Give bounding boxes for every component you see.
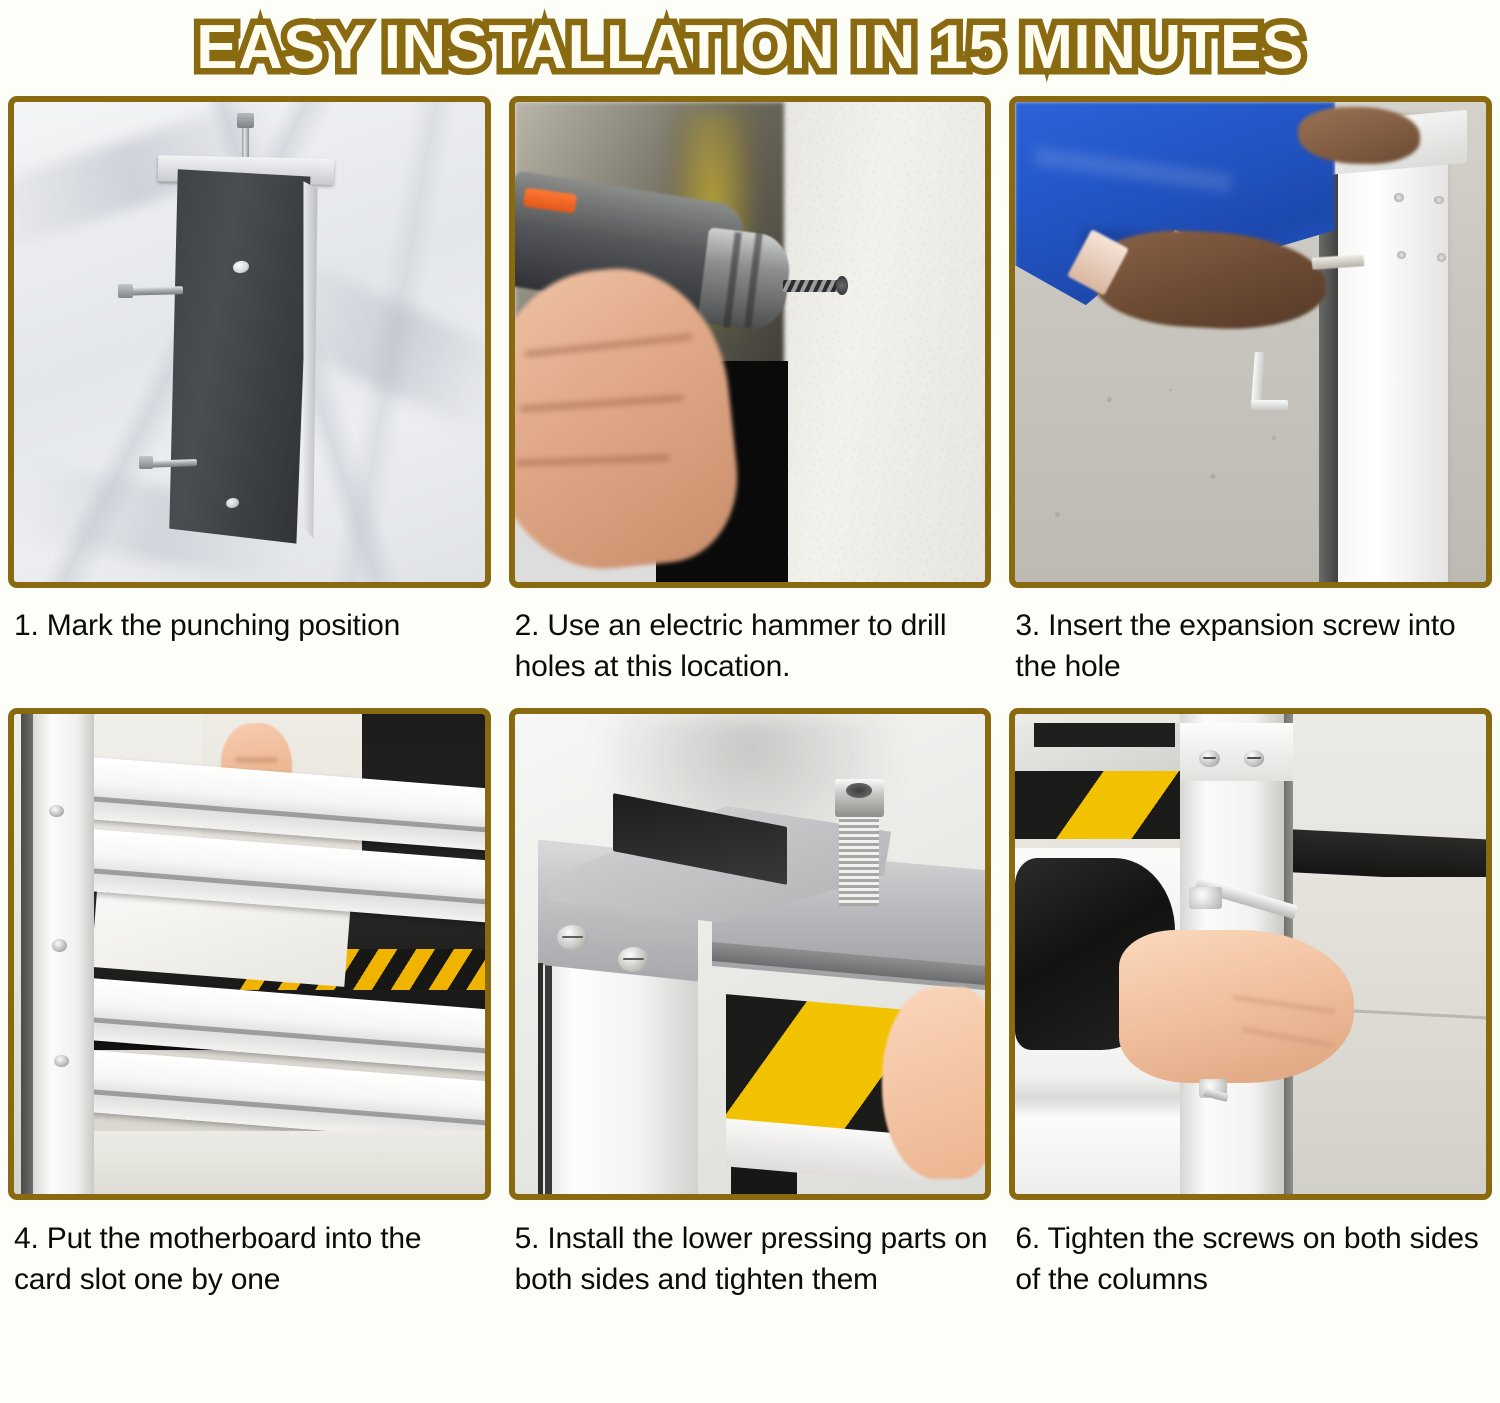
column-shadow-line bbox=[538, 963, 543, 1193]
white-column bbox=[33, 714, 94, 1194]
step-3-caption: 3. Insert the expansion screw into the h… bbox=[1009, 588, 1492, 688]
step-2-photo bbox=[515, 102, 986, 582]
step-card-2: 2. Use an electric hammer to drill holes… bbox=[509, 96, 992, 688]
textured-wall bbox=[783, 102, 985, 582]
step-1-photo bbox=[14, 102, 485, 582]
column-dark-edge bbox=[545, 939, 552, 1193]
worker-upper-hand bbox=[1298, 107, 1420, 165]
column-screw bbox=[1434, 196, 1443, 205]
step-2-photo-frame bbox=[509, 96, 992, 588]
masonry-drill-bit bbox=[783, 280, 839, 292]
finger-crease bbox=[235, 757, 277, 763]
step-4-caption: 4. Put the motherboard into the card slo… bbox=[8, 1200, 491, 1301]
step-card-4: 4. Put the motherboard into the card slo… bbox=[8, 708, 491, 1301]
step-3-photo-frame bbox=[1009, 96, 1492, 588]
step-1-caption: 1. Mark the punching position bbox=[8, 588, 491, 646]
column-screw bbox=[1199, 750, 1220, 767]
floor bbox=[52, 1131, 485, 1193]
anchor-bolt-lower-head bbox=[139, 456, 153, 469]
anchor-bolt-upper-head bbox=[118, 284, 133, 298]
step-4-photo bbox=[14, 714, 485, 1194]
step-card-1: 1. Mark the punching position bbox=[8, 96, 491, 688]
steps-grid-row-1: 1. Mark the punching position bbox=[0, 96, 1500, 688]
column-screw bbox=[52, 939, 67, 951]
hand-supporting-part bbox=[882, 987, 986, 1179]
white-column bbox=[1335, 116, 1448, 582]
allen-key-short-arm bbox=[1251, 400, 1289, 411]
dark-top-rail bbox=[1034, 723, 1175, 747]
column-screw bbox=[1244, 750, 1265, 767]
step-6-photo-frame bbox=[1009, 708, 1492, 1200]
step-card-3: 3. Insert the expansion screw into the h… bbox=[1009, 96, 1492, 688]
column-base-plate bbox=[169, 169, 310, 543]
hex-bolt-thread bbox=[839, 810, 879, 906]
header-banner: EASY INSTALLATION IN 15 MINUTES bbox=[0, 0, 1500, 96]
pressing-part-screw bbox=[557, 925, 588, 950]
top-bolt-head bbox=[237, 113, 254, 128]
step-3-photo bbox=[1015, 102, 1486, 582]
hex-bolt-socket bbox=[846, 783, 872, 797]
step-6-photo bbox=[1015, 714, 1486, 1194]
column-top-bracket bbox=[1180, 723, 1293, 781]
step-5-photo bbox=[515, 714, 986, 1194]
column-screw bbox=[1394, 193, 1403, 202]
column-screw bbox=[54, 1055, 69, 1067]
step-2-caption: 2. Use an electric hammer to drill holes… bbox=[509, 588, 992, 688]
step-6-caption: 6. Tighten the screws on both sides of t… bbox=[1009, 1200, 1492, 1301]
column-screw bbox=[1437, 253, 1446, 262]
pressing-part-screw bbox=[618, 947, 649, 972]
screw-being-tightened bbox=[1189, 887, 1222, 909]
step-1-photo-frame bbox=[8, 96, 491, 588]
step-5-photo-frame bbox=[509, 708, 992, 1200]
step-5-caption: 5. Install the lower pressing parts on b… bbox=[509, 1200, 992, 1301]
steps-grid-row-2: 4. Put the motherboard into the card slo… bbox=[0, 708, 1500, 1301]
step-card-5: 5. Install the lower pressing parts on b… bbox=[509, 708, 992, 1301]
step-card-6: 6. Tighten the screws on both sides of t… bbox=[1009, 708, 1492, 1301]
row-spacer bbox=[0, 688, 1500, 708]
page-title: EASY INSTALLATION IN 15 MINUTES bbox=[196, 17, 1304, 79]
hazard-stripe-band bbox=[1015, 771, 1189, 838]
step-4-photo-frame bbox=[8, 708, 491, 1200]
